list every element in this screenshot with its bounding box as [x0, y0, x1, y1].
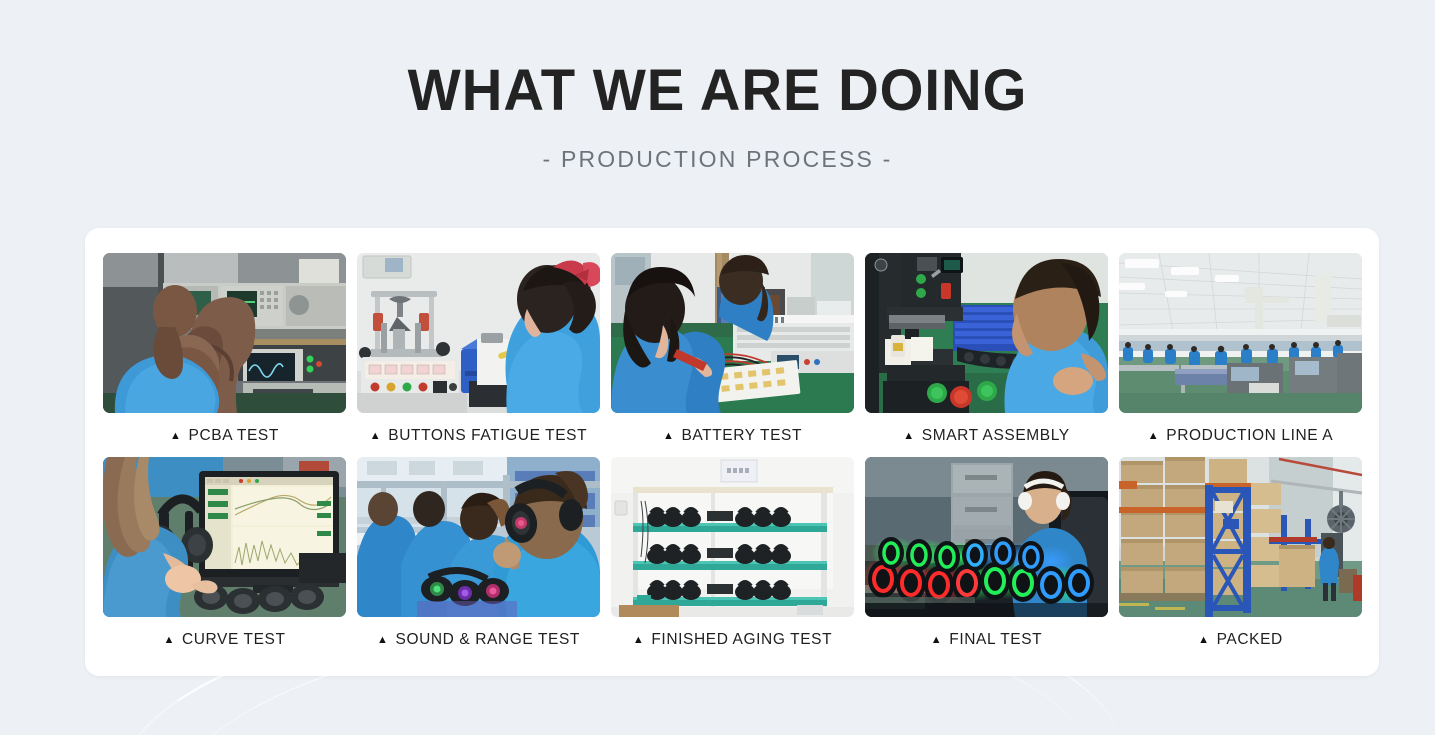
- pcba-test-photo[interactable]: [103, 253, 346, 413]
- triangle-marker-icon: ▲: [633, 634, 645, 646]
- caption-label: PACKED: [1217, 631, 1283, 648]
- caption: ▲PRODUCTION LINE A: [1119, 413, 1362, 457]
- curve-test-photo[interactable]: [103, 457, 346, 617]
- caption-label: SOUND & RANGE TEST: [396, 631, 581, 648]
- caption: ▲FINAL TEST: [865, 617, 1108, 661]
- page-header: WHAT WE ARE DOING - PRODUCTION PROCESS -: [0, 0, 1435, 173]
- buttons-fatigue-test-photo[interactable]: [357, 253, 600, 413]
- packed-photo[interactable]: [1119, 457, 1362, 617]
- caption-label: BUTTONS FATIGUE TEST: [388, 427, 587, 444]
- caption-label: FINISHED AGING TEST: [651, 631, 832, 648]
- caption: ▲FINISHED AGING TEST: [611, 617, 854, 661]
- gallery-item[interactable]: ▲FINAL TEST: [865, 457, 1108, 661]
- gallery-item[interactable]: ▲FINISHED AGING TEST: [611, 457, 854, 661]
- triangle-marker-icon: ▲: [370, 430, 382, 442]
- page-subtitle: - PRODUCTION PROCESS -: [0, 146, 1435, 173]
- caption: ▲SMART ASSEMBLY: [865, 413, 1108, 457]
- process-gallery-grid: ▲PCBA TEST: [103, 253, 1363, 661]
- gallery-item[interactable]: ▲PACKED: [1119, 457, 1362, 661]
- final-test-photo[interactable]: [865, 457, 1108, 617]
- gallery-item[interactable]: ▲SOUND & RANGE TEST: [357, 457, 600, 661]
- gallery-item[interactable]: ▲CURVE TEST: [103, 457, 346, 661]
- smart-assembly-photo[interactable]: [865, 253, 1108, 413]
- gallery-item[interactable]: ▲SMART ASSEMBLY: [865, 253, 1108, 457]
- triangle-marker-icon: ▲: [163, 634, 175, 646]
- page-title: WHAT WE ARE DOING: [22, 62, 1414, 120]
- triangle-marker-icon: ▲: [1148, 430, 1160, 442]
- caption: ▲BATTERY TEST: [611, 413, 854, 457]
- finished-aging-test-photo[interactable]: [611, 457, 854, 617]
- triangle-marker-icon: ▲: [931, 634, 943, 646]
- gallery-item[interactable]: ▲BATTERY TEST: [611, 253, 854, 457]
- gallery-card: ▲PCBA TEST: [85, 228, 1379, 676]
- gallery-item[interactable]: ▲PCBA TEST: [103, 253, 346, 457]
- caption: ▲SOUND & RANGE TEST: [357, 617, 600, 661]
- triangle-marker-icon: ▲: [663, 430, 675, 442]
- gallery-item[interactable]: ▲BUTTONS FATIGUE TEST: [357, 253, 600, 457]
- gallery-item[interactable]: ▲PRODUCTION LINE A: [1119, 253, 1362, 457]
- gallery-row: ▲CURVE TEST: [103, 457, 1363, 661]
- caption-label: CURVE TEST: [182, 631, 286, 648]
- triangle-marker-icon: ▲: [377, 634, 389, 646]
- battery-test-photo[interactable]: [611, 253, 854, 413]
- caption-label: PRODUCTION LINE A: [1166, 427, 1333, 444]
- production-line-a-photo[interactable]: [1119, 253, 1362, 413]
- triangle-marker-icon: ▲: [1198, 634, 1210, 646]
- triangle-marker-icon: ▲: [903, 430, 915, 442]
- caption: ▲PCBA TEST: [103, 413, 346, 457]
- triangle-marker-icon: ▲: [170, 430, 182, 442]
- caption: ▲CURVE TEST: [103, 617, 346, 661]
- caption-label: SMART ASSEMBLY: [922, 427, 1070, 444]
- sound-range-test-photo[interactable]: [357, 457, 600, 617]
- caption-label: PCBA TEST: [189, 427, 279, 444]
- caption-label: FINAL TEST: [949, 631, 1042, 648]
- caption: ▲BUTTONS FATIGUE TEST: [357, 413, 600, 457]
- caption: ▲PACKED: [1119, 617, 1362, 661]
- gallery-row: ▲PCBA TEST: [103, 253, 1363, 457]
- caption-label: BATTERY TEST: [681, 427, 802, 444]
